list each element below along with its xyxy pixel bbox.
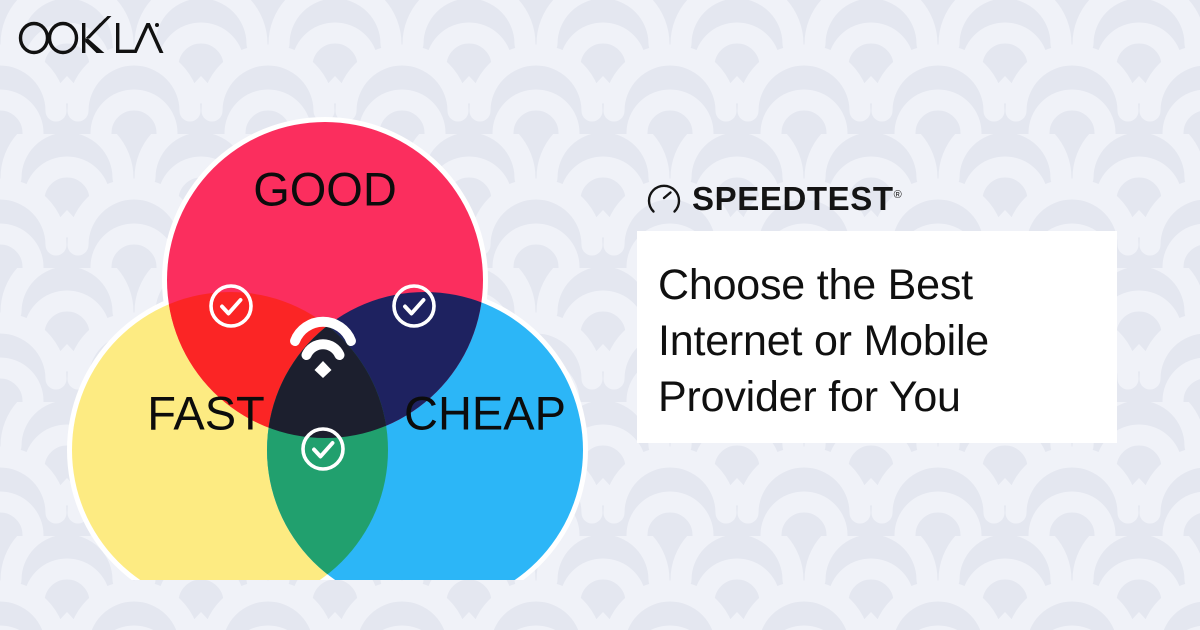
headline-line-1: Choose the Best: [658, 257, 1117, 313]
promo-graphic: GOOD FAST CHEAP SPEEDTEST® Choose the Be…: [0, 0, 1200, 630]
speedometer-icon: [647, 181, 681, 215]
ookla-logo: [16, 16, 166, 60]
right-panel: SPEEDTEST® Choose the Best Internet or M…: [637, 175, 1127, 443]
speedtest-logo: SPEEDTEST®: [637, 175, 1127, 221]
venn-label-good: GOOD: [253, 162, 397, 215]
venn-diagram: GOOD FAST CHEAP: [40, 60, 610, 580]
venn-label-cheap: CHEAP: [404, 386, 566, 439]
venn-label-fast: FAST: [147, 386, 265, 439]
page-title: Choose the Best Internet or Mobile Provi…: [658, 257, 1117, 425]
speedtest-wordmark-text: SPEEDTEST: [692, 180, 894, 217]
headline-line-3: Provider for You: [658, 369, 1117, 425]
registered-trademark-symbol: ®: [894, 189, 903, 201]
headline-line-2: Internet or Mobile: [658, 313, 1117, 369]
speedtest-wordmark: SPEEDTEST®: [692, 182, 902, 215]
headline-card: Choose the Best Internet or Mobile Provi…: [637, 231, 1117, 443]
